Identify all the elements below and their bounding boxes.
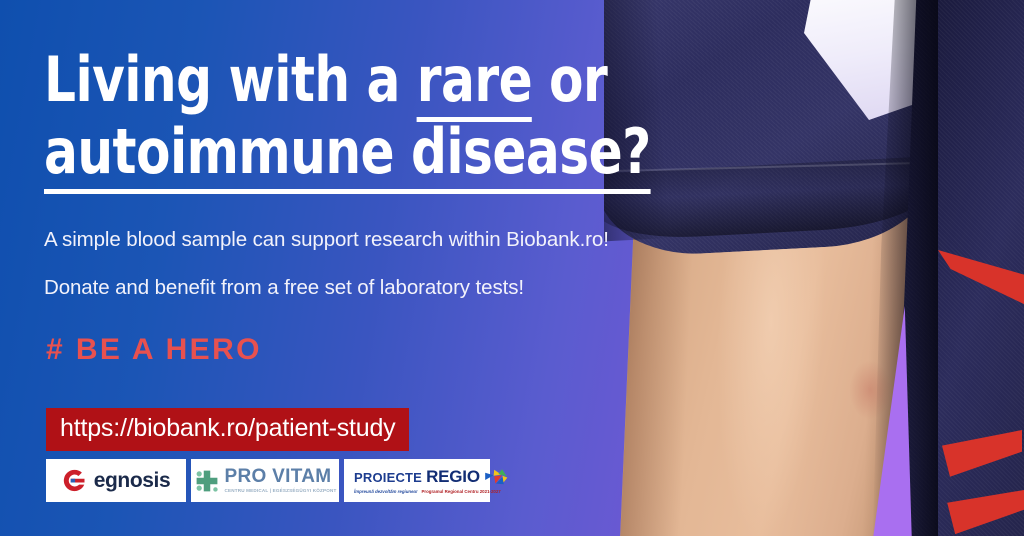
logo-regio-proiecte-label: PROIECTE (354, 470, 422, 485)
logo-proiecte-regio[interactable]: PROIECTE REGIO Împreună dezvoltăm regi (344, 459, 490, 502)
logo-regio-wrap: PROIECTE REGIO Împreună dezvoltăm regi (354, 467, 480, 494)
logo-regio-top-row: PROIECTE REGIO (354, 467, 480, 487)
logo-regio-bottom-row: Împreună dezvoltăm regiunea! Programul R… (354, 489, 480, 494)
headline-line1-before: Living with a (44, 43, 417, 116)
headline-line1-underlined: rare (417, 43, 532, 122)
logo-regio-slogan: Împreună dezvoltăm regiunea! (354, 489, 417, 494)
medical-cross-icon (194, 468, 220, 494)
logo-pro-vitam-label: PRO VITAM (225, 467, 337, 486)
logo-egnosis[interactable]: egnosis (46, 459, 186, 502)
campaign-banner: Living with a rare or autoimmune disease… (0, 0, 1024, 536)
headline-line1-after: or (532, 43, 607, 116)
hero-tagline: # BE A HERO (46, 333, 262, 367)
egnosis-g-mark-icon (62, 468, 87, 493)
study-url-banner[interactable]: https://biobank.ro/patient-study (46, 408, 409, 451)
logo-regio-programme: Programul Regional Centru 2021-2027 (421, 489, 500, 494)
logo-pro-vitam[interactable]: PRO VITAM CENTRU MEDICAL | EGÉSZSÉGÜGYI … (191, 459, 339, 502)
headline-line2-underlined: autoimmune disease? (44, 115, 651, 194)
headline: Living with a rare or autoimmune disease… (44, 44, 651, 188)
banner-content: Living with a rare or autoimmune disease… (44, 0, 744, 536)
logo-pro-vitam-subtitle: CENTRU MEDICAL | EGÉSZSÉGÜGYI KÖZPONT (225, 489, 337, 494)
headline-line2: autoimmune disease? (44, 116, 651, 188)
subtext-line-1: A simple blood sample can support resear… (44, 228, 609, 252)
logo-egnosis-label: egnosis (94, 469, 171, 493)
logo-regio-regio-label: REGIO (426, 467, 480, 487)
logo-pro-vitam-text: PRO VITAM CENTRU MEDICAL | EGÉSZSÉGÜGYI … (225, 467, 337, 493)
partner-logo-strip: egnosis PRO VITAM CENTRU MEDICAL | EGÉSZ… (46, 459, 490, 502)
regio-pinwheel-icon (484, 468, 508, 486)
subtext-line-2: Donate and benefit from a free set of la… (44, 276, 524, 300)
